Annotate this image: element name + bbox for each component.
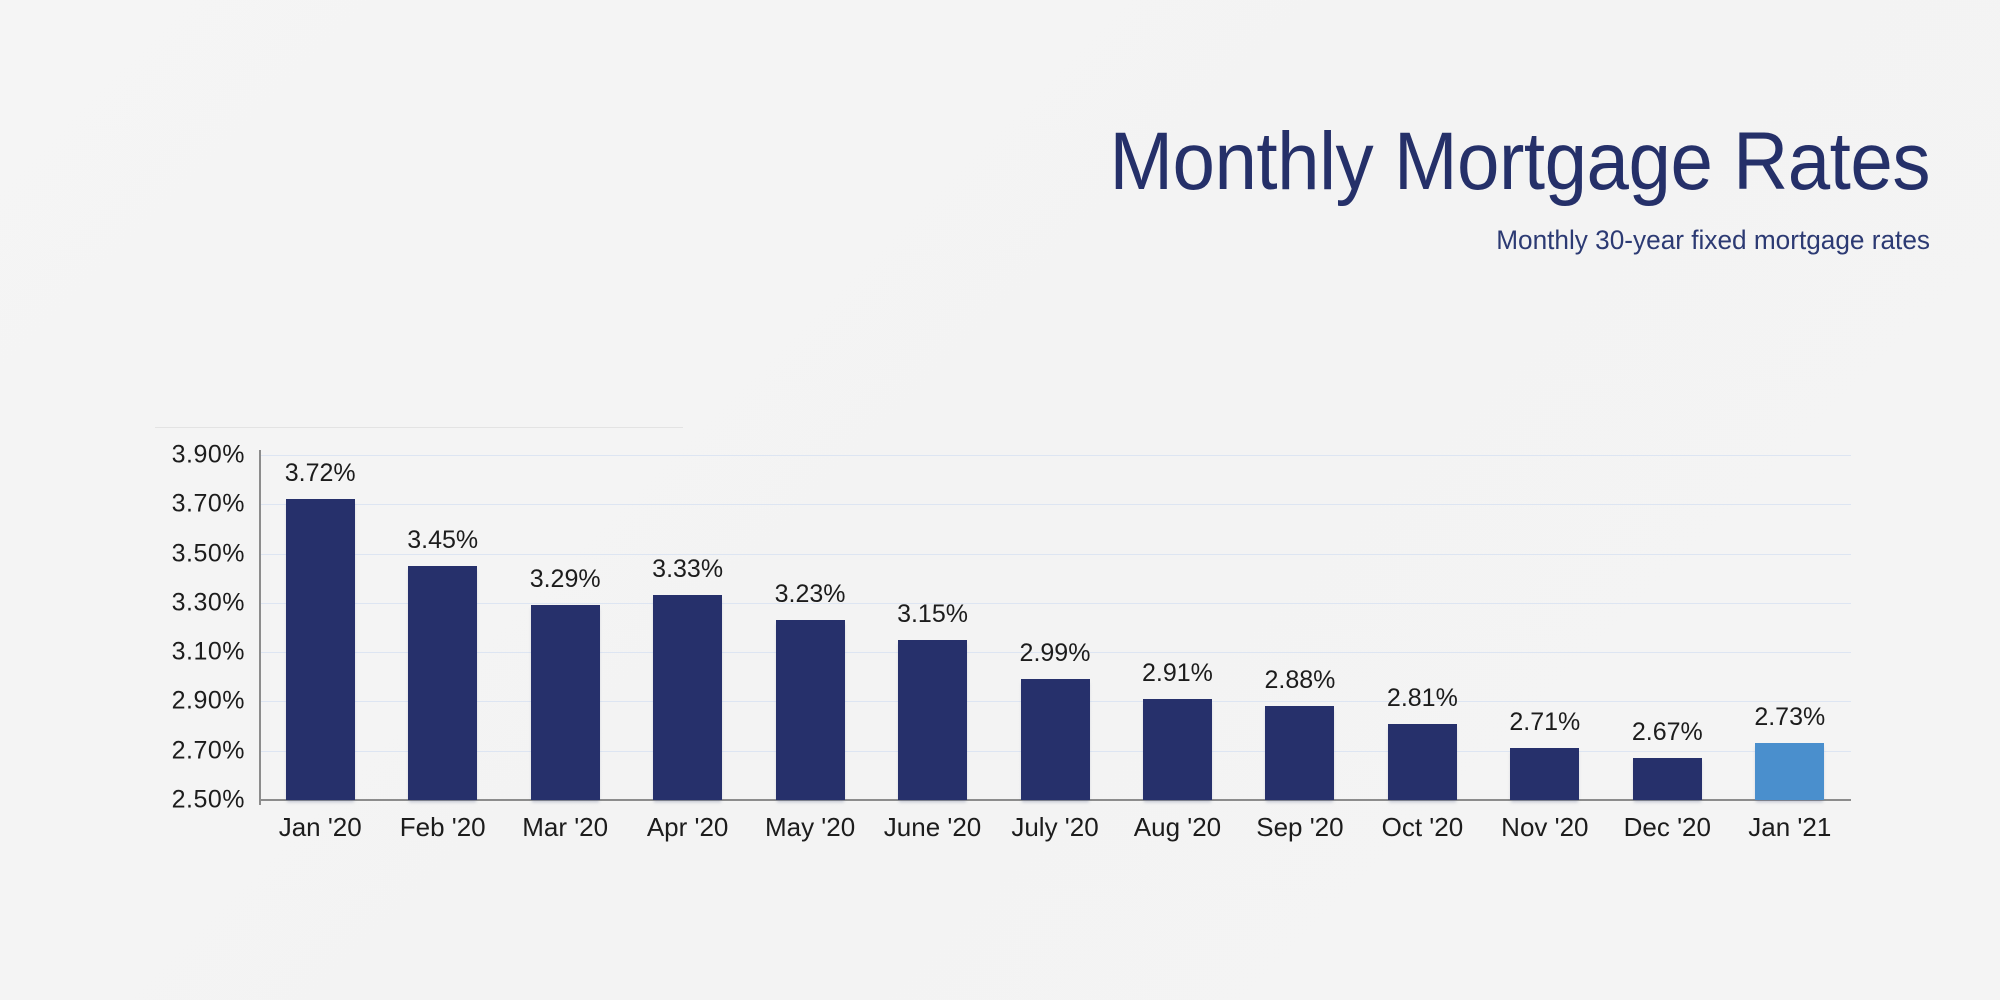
bar-value-label: 2.81% — [1387, 686, 1458, 711]
y-axis-tick-label: 3.70% — [150, 492, 245, 517]
bar-column[interactable]: 3.72% — [286, 455, 355, 800]
bar-value-label: 3.29% — [530, 567, 601, 592]
bar[interactable] — [531, 605, 600, 800]
bar[interactable] — [1388, 724, 1457, 800]
bar[interactable] — [1143, 699, 1212, 800]
bar[interactable] — [653, 595, 722, 800]
bar-column[interactable]: 3.23% — [776, 455, 845, 800]
plot-wrapper: 3.90%3.70%3.50%3.30%3.10%2.90%2.70%2.50%… — [0, 0, 2000, 1000]
chart-canvas: Monthly Mortgage Rates Monthly 30-year f… — [0, 0, 2000, 1000]
bar[interactable] — [1510, 748, 1579, 800]
bar-column[interactable]: 3.33% — [653, 455, 722, 800]
bar-value-label: 2.91% — [1142, 661, 1213, 686]
bar-column[interactable]: 2.91% — [1143, 455, 1212, 800]
x-axis-tick-label: Jan '20 — [279, 812, 362, 842]
bar-value-label: 3.15% — [897, 602, 968, 627]
bar-column[interactable]: 2.99% — [1021, 455, 1090, 800]
y-axis-tick-label: 2.50% — [150, 788, 245, 813]
bar-value-label: 3.72% — [285, 461, 356, 486]
bar-column[interactable]: 2.71% — [1510, 455, 1579, 800]
x-axis-tick-label: July '20 — [1011, 812, 1098, 842]
bar-column[interactable]: 3.29% — [531, 455, 600, 800]
bar-column[interactable]: 2.81% — [1388, 455, 1457, 800]
bar[interactable] — [898, 640, 967, 800]
bar[interactable] — [286, 499, 355, 800]
bar-value-label: 2.67% — [1632, 720, 1703, 745]
x-axis-tick-label: Apr '20 — [647, 812, 729, 842]
y-axis-tick-label: 3.30% — [150, 590, 245, 615]
bar-column[interactable]: 2.73% — [1755, 455, 1824, 800]
x-axis-tick-label: Aug '20 — [1134, 812, 1221, 842]
bar-value-label: 3.45% — [407, 528, 478, 553]
x-axis-tick-label: Nov '20 — [1501, 812, 1588, 842]
y-axis-tick-label: 2.90% — [150, 689, 245, 714]
x-axis-tick-labels: Jan '20Feb '20Mar '20Apr '20May '20June … — [259, 812, 1851, 852]
y-axis-tick-labels: 3.90%3.70%3.50%3.30%3.10%2.90%2.70%2.50% — [150, 440, 245, 800]
x-axis-tick-label: Feb '20 — [400, 812, 486, 842]
bar[interactable] — [1265, 706, 1334, 800]
bar[interactable] — [1755, 743, 1824, 800]
y-axis-tick-label: 2.70% — [150, 738, 245, 763]
bar[interactable] — [1633, 758, 1702, 800]
y-axis-tick-label: 3.10% — [150, 640, 245, 665]
bar[interactable] — [776, 620, 845, 800]
bar-series: 3.72%3.45%3.29%3.33%3.23%3.15%2.99%2.91%… — [259, 455, 1851, 800]
bar-value-label: 2.71% — [1509, 710, 1580, 735]
bar-column[interactable]: 2.88% — [1265, 455, 1334, 800]
x-axis-tick-label: Dec '20 — [1624, 812, 1711, 842]
x-axis-tick-label: Jan '21 — [1748, 812, 1831, 842]
x-axis-tick-label: Oct '20 — [1382, 812, 1464, 842]
bar-value-label: 3.33% — [652, 557, 723, 582]
x-axis-tick-label: June '20 — [884, 812, 982, 842]
bar-value-label: 2.99% — [1020, 641, 1091, 666]
x-axis-tick-label: Sep '20 — [1256, 812, 1343, 842]
x-axis-tick-label: Mar '20 — [522, 812, 608, 842]
bar-value-label: 3.23% — [775, 582, 846, 607]
bar[interactable] — [1021, 679, 1090, 800]
x-axis-tick-label: May '20 — [765, 812, 855, 842]
bar-value-label: 2.88% — [1264, 668, 1335, 693]
y-axis-tick-label: 3.50% — [150, 541, 245, 566]
bar-column[interactable]: 3.45% — [408, 455, 477, 800]
bar[interactable] — [408, 566, 477, 800]
bar-column[interactable]: 2.67% — [1633, 455, 1702, 800]
bar-value-label: 2.73% — [1754, 705, 1825, 730]
y-axis-tick-label: 3.90% — [150, 443, 245, 468]
bar-column[interactable]: 3.15% — [898, 455, 967, 800]
